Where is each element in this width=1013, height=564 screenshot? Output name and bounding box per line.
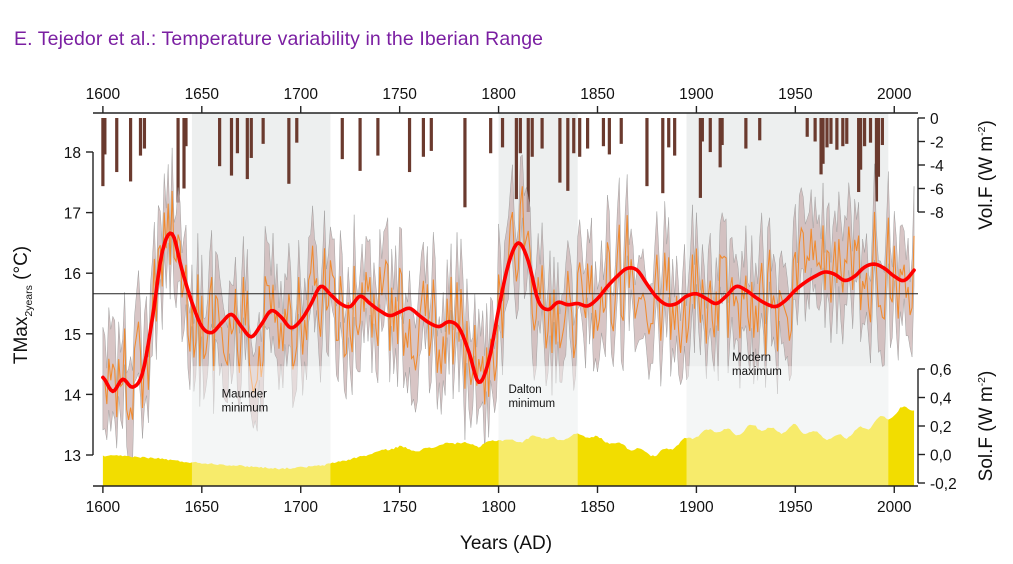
volcanic-bar	[519, 118, 522, 153]
volcanic-bar	[758, 118, 761, 140]
right-bottom-axis-tick-label: 0,2	[930, 419, 952, 436]
volcanic-bar	[218, 118, 221, 166]
annotation-maunder-line2: minimum	[222, 402, 269, 414]
right-top-axis-tick-label: 0	[930, 111, 939, 128]
x-axis-tick-label: 2000	[877, 499, 912, 516]
annotation-modern-line2: maximum	[732, 366, 782, 378]
volcanic-bar	[814, 118, 817, 142]
volcanic-bar	[184, 118, 187, 146]
x-axis-tick-label: 1900	[679, 499, 714, 516]
volcanic-bar	[489, 118, 492, 153]
volcanic-bar	[645, 118, 648, 186]
volcanic-bar	[572, 118, 575, 153]
volcanic-bar	[358, 118, 361, 171]
top-axis-tick-label: 1700	[283, 86, 318, 103]
annotation-maunder-line1: Maunder	[222, 388, 268, 400]
volcanic-bar	[139, 118, 142, 156]
x-axis-tick-label: 1800	[481, 499, 516, 516]
volcanic-bar	[541, 118, 544, 149]
left-axis-tick-label: 14	[64, 387, 82, 404]
x-axis-label: Years (AD)	[460, 533, 552, 554]
volcanic-bar	[515, 118, 518, 199]
y-axis-volcanic-label: Vol.F (W m-2)	[976, 120, 997, 230]
volcanic-bar	[287, 118, 290, 184]
top-axis-tick-label: 1850	[580, 86, 615, 103]
volcanic-bar	[230, 118, 233, 176]
x-axis-tick-label: 1850	[580, 499, 615, 516]
right-top-axis-tick-label: -2	[930, 135, 944, 152]
left-axis-tick-label: 18	[64, 145, 81, 162]
right-bottom-axis-tick-label: 0,6	[930, 362, 952, 379]
volcanic-bar	[881, 118, 884, 145]
y-axis-solar-label: Sol.F (W m-2)	[976, 371, 997, 482]
x-axis-tick-label: 1950	[778, 499, 813, 516]
volcanic-bar	[673, 118, 676, 156]
x-axis-tick-label: 1650	[185, 499, 220, 516]
annotation-modern-line1: Modern	[732, 352, 771, 364]
volcanic-bar	[115, 118, 118, 172]
volcanic-bar	[408, 118, 411, 172]
right-top-axis-tick-label: -4	[930, 158, 944, 175]
volcanic-bar	[250, 118, 253, 158]
volcanic-bar	[586, 118, 589, 149]
left-axis-tick-label: 15	[64, 327, 81, 344]
volcanic-bar	[602, 118, 605, 146]
right-top-axis-tick-label: -6	[930, 182, 944, 199]
volcanic-bar	[877, 118, 880, 177]
volcanic-bar	[825, 118, 828, 147]
top-axis-tick-label: 1650	[185, 86, 220, 103]
period-band-overlay-maunder	[192, 366, 330, 486]
volcanic-bar	[829, 118, 832, 144]
y-axis-left-label: TMax2years (°C)	[11, 246, 35, 364]
volcanic-bar	[501, 118, 504, 147]
volcanic-bar	[143, 118, 146, 149]
volcanic-bar	[463, 118, 466, 207]
volcanic-bar	[620, 118, 623, 144]
x-axis-tick-label: 1750	[382, 499, 417, 516]
volcanic-bar	[744, 118, 747, 149]
volcanic-bar	[806, 118, 809, 137]
annotation-dalton-line1: Dalton	[508, 384, 541, 396]
volcanic-bar	[578, 118, 581, 157]
volcanic-bar	[558, 118, 561, 183]
volcanic-bar	[422, 118, 425, 157]
x-axis-tick-label: 1700	[283, 499, 318, 516]
volcanic-bar	[129, 118, 132, 181]
volcanic-bar	[246, 118, 249, 179]
volcanic-bar	[667, 118, 670, 147]
volcanic-bar	[709, 118, 712, 152]
volcanic-bar	[835, 118, 838, 150]
volcanic-bar	[236, 118, 239, 153]
volcanic-bar	[869, 118, 872, 143]
right-bottom-axis-tick-label: 0,4	[930, 391, 952, 408]
figure-plot: MaunderminimumDaltonminimumModernmaximum…	[0, 0, 1013, 564]
volcanic-bar	[661, 118, 664, 193]
left-axis-tick-label: 17	[64, 206, 81, 223]
top-axis-tick-label: 1950	[778, 86, 813, 103]
period-band-overlay-modern	[687, 366, 889, 486]
annotation-dalton-line2: minimum	[508, 398, 555, 410]
right-bottom-axis-tick-label: 0,0	[930, 448, 952, 465]
top-axis-tick-label: 1750	[382, 86, 417, 103]
figure-root: E. Tejedor et al.: Temperature variabili…	[0, 0, 1013, 564]
volcanic-bar	[841, 118, 844, 146]
volcanic-bar	[262, 118, 265, 144]
right-bottom-axis-tick-label: -0,2	[930, 476, 957, 493]
volcanic-bar	[859, 118, 862, 170]
right-top-axis-tick-label: -8	[930, 205, 944, 222]
volcanic-bar	[721, 118, 724, 145]
top-axis-tick-label: 1800	[481, 86, 516, 103]
volcanic-bar	[430, 118, 433, 151]
volcanic-bar	[531, 118, 534, 157]
x-axis-tick-label: 1600	[86, 499, 121, 516]
volcanic-bar	[566, 118, 569, 191]
top-axis-tick-label: 1600	[86, 86, 121, 103]
volcanic-bar	[821, 118, 824, 164]
volcanic-bar	[845, 118, 848, 144]
volcanic-bar	[103, 118, 106, 154]
top-axis-tick-label: 1900	[679, 86, 714, 103]
volcanic-bar	[701, 118, 704, 142]
left-axis-tick-label: 16	[64, 266, 81, 283]
volcanic-bar	[608, 118, 611, 154]
volcanic-bar	[341, 118, 344, 159]
left-axis-tick-label: 13	[64, 448, 81, 465]
volcanic-bar	[376, 118, 379, 156]
top-axis-tick-label: 2000	[877, 86, 912, 103]
volcanic-bar	[295, 118, 298, 143]
volcanic-bar	[863, 118, 866, 146]
